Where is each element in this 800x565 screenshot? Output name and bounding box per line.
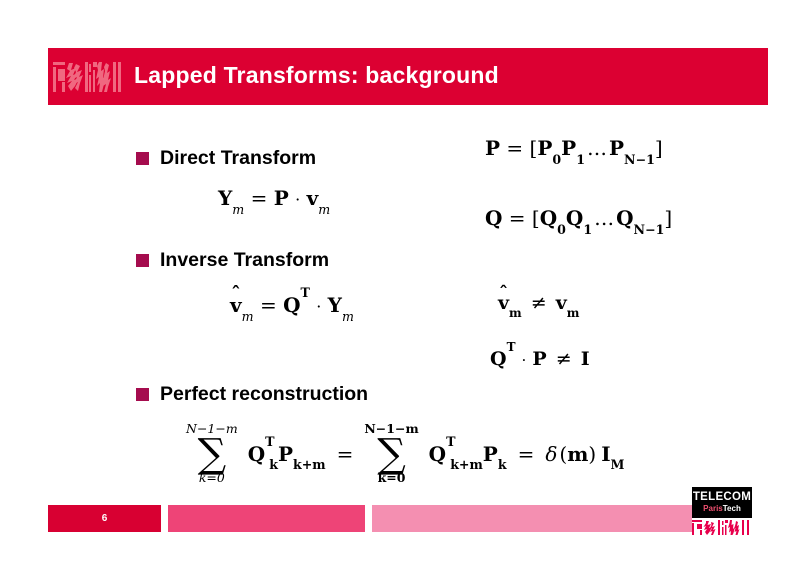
footer-bar-2: [168, 505, 365, 532]
bullet-square-icon: [136, 254, 149, 267]
formula-direct-v: v: [307, 186, 319, 210]
summation-1-term: QTkPk+m: [248, 442, 326, 466]
formula-q-t2: Q: [566, 206, 583, 230]
formula-qp-Q-sup: T: [507, 340, 516, 354]
bullet-direct-transform: Direct Transform: [136, 149, 316, 169]
formula-qp-relation: ≠: [556, 348, 572, 370]
slide-body: Direct Transform Ym = P · vm P = [P0P1…P…: [0, 105, 800, 485]
formula-direct-Y-sub: m: [232, 202, 244, 217]
result-m: m: [567, 442, 588, 466]
formula-p-equals: =: [506, 136, 523, 160]
formula-neq-v-hat: ˆv: [498, 294, 509, 313]
bullet-perfect-reconstruction: Perfect reconstruction: [136, 385, 368, 405]
summation-2-term: QTk+mPk: [429, 442, 507, 466]
footer-bar-3: [372, 505, 692, 532]
delta-symbol-icon: δ: [545, 442, 557, 466]
formula-direct-dot: ·: [295, 190, 300, 209]
slide-header: Lapped Transforms: background: [48, 48, 768, 105]
summation-1: N−1−m ∑ k=0: [186, 423, 238, 484]
sum1-P-sub: k+m: [293, 457, 326, 472]
telecom-paristech-glyph-icon: [52, 60, 122, 94]
formula-p-lhs: P: [485, 136, 500, 160]
sum2-P-sub: k: [498, 457, 507, 472]
formula-qp-not-equal-identity: QT · P ≠ I: [490, 350, 590, 369]
sum2-Q-sup: T: [446, 434, 455, 449]
hat-accent-icon: ˆ: [231, 285, 241, 304]
sigma-icon: ∑: [198, 435, 227, 473]
formula-v-not-equal: ˆvm ≠ vm: [498, 294, 579, 313]
sum1-Q-sup: T: [265, 434, 274, 449]
brand-paris-label: Paris: [703, 504, 723, 513]
formula-q-t1: Q: [540, 206, 557, 230]
formula-q-t1-sub: 0: [557, 222, 566, 237]
formula-direct-equals: =: [251, 186, 268, 210]
formula-qp-P: P: [532, 348, 546, 370]
formula-p-close-bracket: ]: [655, 136, 663, 160]
result-I-sub: M: [611, 457, 625, 472]
formula-inverse-Y: Y: [328, 293, 342, 317]
sigma-icon: ∑: [377, 435, 406, 473]
formula-q-definition: Q = [Q0Q1…QN−1]: [485, 208, 672, 228]
formula-qp-dot: ·: [522, 351, 527, 369]
formula-p-t1-sub: 0: [552, 152, 561, 167]
page-title: Lapped Transforms: background: [134, 64, 499, 89]
formula-neq-relation: ≠: [531, 292, 547, 314]
formula-inverse-Y-sub: m: [342, 309, 354, 324]
brand-telecom-label: TELECOM: [693, 492, 751, 504]
page-number: 6: [102, 513, 108, 524]
bullet-inverse-transform: Inverse Transform: [136, 251, 329, 271]
bullet-label: Inverse Transform: [160, 251, 329, 271]
bullet-label: Perfect reconstruction: [160, 385, 368, 405]
formula-inverse-v-sub: m: [242, 309, 254, 324]
formula-q-equals: =: [509, 206, 526, 230]
formula-qp-I: I: [581, 348, 590, 370]
result-close-paren: ): [588, 442, 596, 466]
formula-direct-transform: Ym = P · vm: [218, 188, 330, 208]
bullet-square-icon: [136, 152, 149, 165]
formula-p-t2-sub: 1: [576, 152, 585, 167]
formula-q-lhs: Q: [485, 206, 502, 230]
sum2-Q: Q: [429, 442, 446, 466]
formula-q-t2-sub: 1: [583, 222, 592, 237]
brand-tech-label: Tech: [723, 504, 741, 513]
formula-p-dots: …: [587, 136, 607, 160]
summation-result: δ(m)IM: [545, 442, 624, 466]
formula-qp-Q: Q: [490, 348, 507, 370]
formula-neq-v-sub: m: [509, 306, 522, 320]
formula-p-t3: P: [609, 136, 624, 160]
sum1-Q-sub: k: [269, 457, 278, 472]
slide-footer: 6: [0, 505, 800, 537]
summation-1-lower-limit: k=0: [199, 472, 225, 485]
formula-p-t2: P: [561, 136, 576, 160]
formula-inverse-dot: ·: [316, 297, 321, 316]
brand-logo-box: TELECOM ParisTech: [692, 487, 752, 518]
sum2-Q-sub: k+m: [450, 457, 483, 472]
summation-relation-2: =: [518, 442, 535, 466]
sum1-P: P: [278, 442, 293, 466]
formula-neq-v-rhs-sub: m: [567, 306, 580, 320]
bullet-square-icon: [136, 388, 149, 401]
result-I: I: [601, 442, 610, 466]
summation-relation-1: =: [337, 442, 354, 466]
formula-inverse-Q-sup: T: [300, 285, 309, 300]
formula-direct-Y: Y: [218, 186, 232, 210]
formula-q-open-bracket: [: [532, 206, 540, 230]
formula-direct-P: P: [274, 186, 289, 210]
formula-neq-v-rhs: v: [556, 292, 567, 314]
formula-inverse-v-hat: ˆv: [230, 295, 242, 315]
sum1-Q: Q: [248, 442, 265, 466]
formula-p-definition: P = [P0P1…PN−1]: [485, 138, 663, 158]
summation-2: N−1−m ∑ k=0: [364, 423, 418, 484]
hat-accent-icon: ˆ: [499, 285, 508, 303]
sum2-P: P: [483, 442, 498, 466]
slide: Lapped Transforms: background Direct Tra…: [0, 0, 800, 565]
formula-perfect-reconstruction: N−1−m ∑ k=0 QTkPk+m = N−1−m ∑ k=0 QTk+mP…: [186, 423, 625, 484]
formula-q-dots: …: [594, 206, 614, 230]
formula-q-close-bracket: ]: [664, 206, 672, 230]
summation-2-lower-limit: k=0: [378, 472, 406, 485]
formula-inverse-equals: =: [260, 293, 277, 317]
formula-q-t3-sub: N−1: [634, 222, 665, 237]
formula-p-t3-sub: N−1: [624, 152, 655, 167]
formula-inverse-transform: ˆvm = QT · Ym: [230, 295, 354, 315]
footer-bar-page: 6: [48, 505, 161, 532]
formula-inverse-Q: Q: [283, 293, 300, 317]
formula-p-t1: P: [537, 136, 552, 160]
bullet-label: Direct Transform: [160, 149, 316, 169]
brand-paristech-label: ParisTech: [703, 505, 741, 513]
formula-q-t3: Q: [616, 206, 633, 230]
formula-direct-v-sub: m: [318, 202, 330, 217]
brand-logo: TELECOM ParisTech: [692, 487, 752, 535]
telecom-paristech-glyph-icon: [692, 520, 752, 535]
